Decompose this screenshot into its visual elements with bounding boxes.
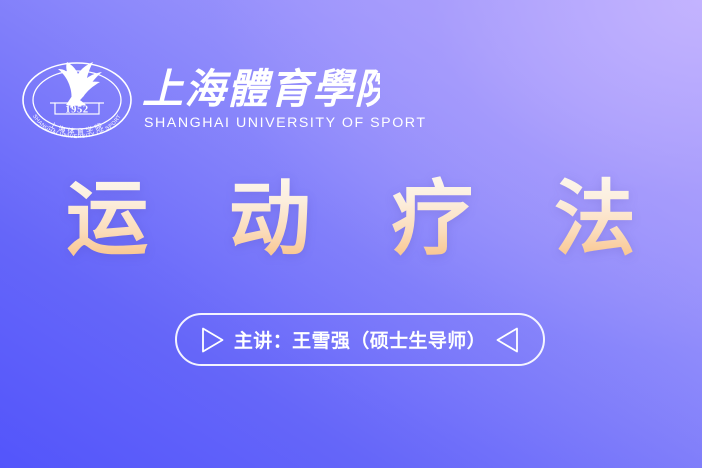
play-triangle-right-icon <box>195 323 229 357</box>
wordmark-chinese-text: 上海體育學院 <box>142 66 380 112</box>
play-triangle-left-icon <box>491 323 525 357</box>
presenter-banner: 主讲：王雪强（硕士生导师） <box>175 313 545 366</box>
wordmark-chinese: 上海體育學院 <box>142 65 380 113</box>
presenter-label: 主讲：王雪强（硕士生导师） <box>234 326 486 353</box>
svg-text:1952: 1952 <box>65 105 88 116</box>
wordmark-english: SHANGHAI UNIVERSITY OF SPORT <box>144 116 427 130</box>
svg-text:SHANGHAI UNIVERSITY OF SPORT: SHANGHAI UNIVERSITY OF SPORT <box>31 113 123 140</box>
page-title: 运 动 疗 法 <box>0 176 702 265</box>
course-title-slide: 1952 上海体育学院 SHANGHAI UNIVERSITY OF SPORT… <box>0 0 702 468</box>
brand-lockup: 1952 上海体育学院 SHANGHAI UNIVERSITY OF SPORT… <box>20 56 427 140</box>
wordmark: 上海體育學院 SHANGHAI UNIVERSITY OF SPORT <box>142 65 427 130</box>
university-seal-icon: 1952 上海体育学院 SHANGHAI UNIVERSITY OF SPORT <box>20 56 134 140</box>
